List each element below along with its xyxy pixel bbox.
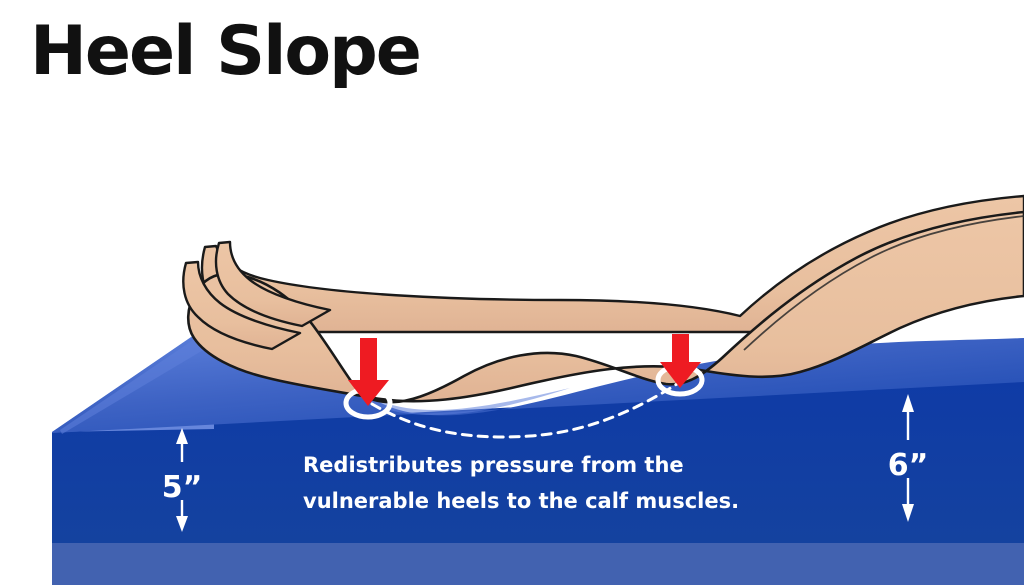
- diagram-stage: Heel Slope: [0, 0, 1024, 585]
- measurement-right-label: 6”: [888, 448, 929, 483]
- caption-line-2: vulnerable heels to the calf muscles.: [303, 489, 739, 513]
- heel-slope-illustration: 5” 6” Redistributes pressure from the vu…: [0, 0, 1024, 585]
- wedge-base-strip: [52, 543, 1024, 585]
- measurement-left-label: 5”: [162, 470, 203, 505]
- caption-line-1: Redistributes pressure from the: [303, 453, 684, 477]
